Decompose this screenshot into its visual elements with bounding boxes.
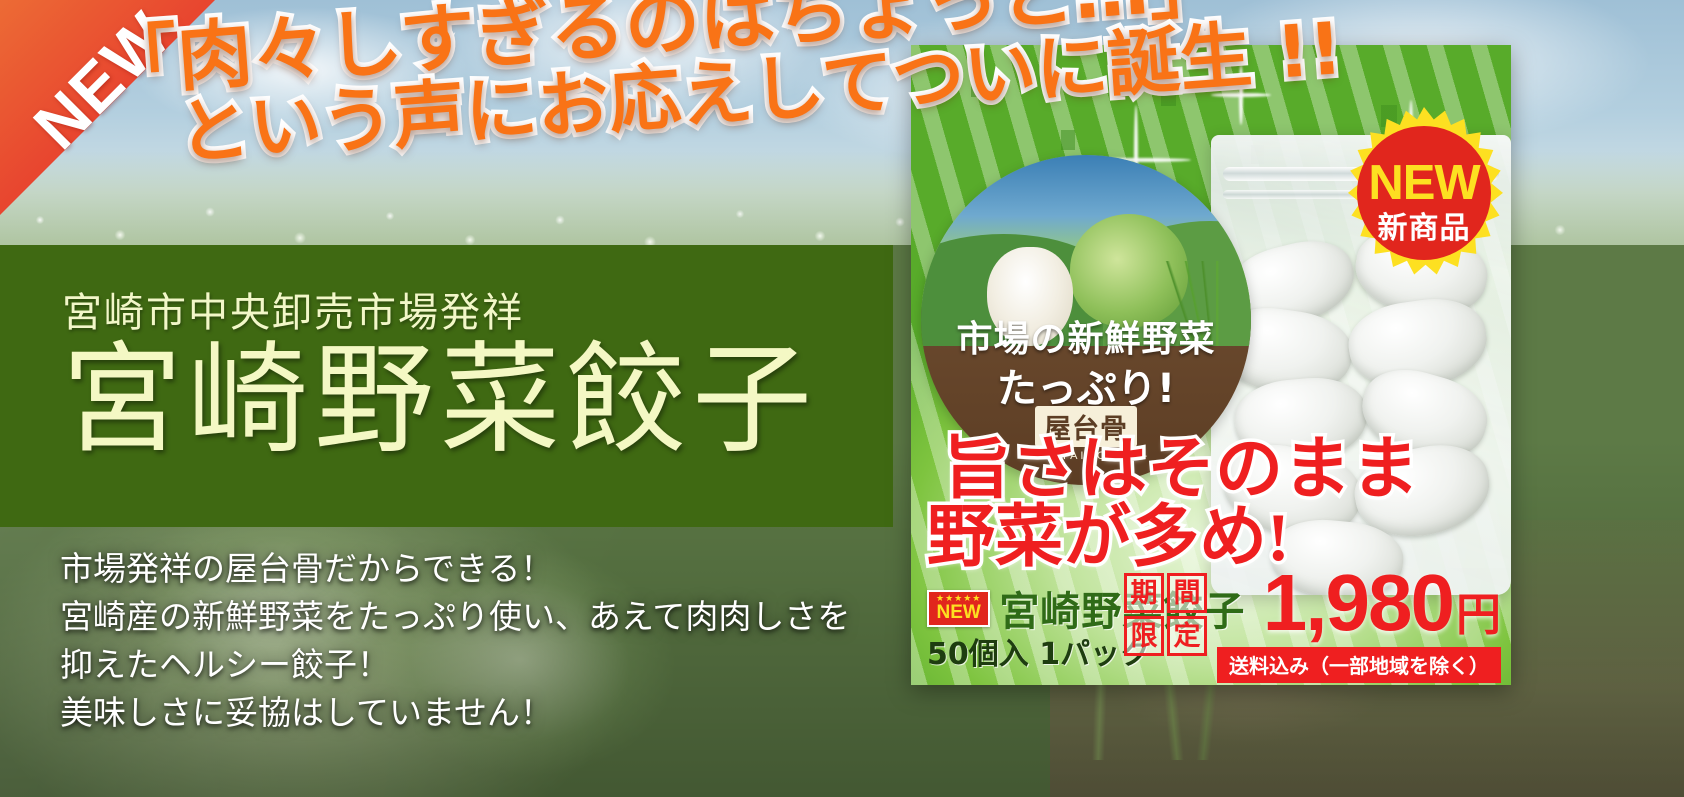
limited-char-1: 期 xyxy=(1124,573,1164,613)
body-line-4: 美味しさに妥協はしていません！ xyxy=(60,689,940,737)
page-title: 宮崎野菜餃子 xyxy=(62,335,818,467)
price-block: 1,980 円 送料込み（一部地域を除く） xyxy=(1217,565,1501,683)
limited-time-badge: 期 間 限 定 xyxy=(1124,573,1207,656)
badge-text-line-1: 市場の新鮮野菜 xyxy=(921,310,1251,362)
mini-new-badge: ★★★★★ NEW xyxy=(927,590,990,627)
promo-line-1: 旨さはそのまま xyxy=(943,435,1485,503)
limited-char-4: 定 xyxy=(1167,616,1207,656)
product-subtitle: 宮崎市中央卸売市場発祥 xyxy=(62,280,524,338)
price-currency: 円 xyxy=(1456,578,1501,643)
package-promo-text: 旨さはそのまま 野菜が多め! xyxy=(925,435,1485,571)
body-line-3: 抑えたヘルシー餃子！ xyxy=(60,641,940,689)
body-copy: 市場発祥の屋台骨だからできる！ 宮崎産の新鮮野菜をたっぷり使い、あえて肉肉しさを… xyxy=(60,545,940,736)
mini-new-label: NEW xyxy=(937,603,981,622)
body-line-1: 市場発祥の屋台骨だからできる！ xyxy=(60,545,940,593)
product-quantity: 50個入 1パック xyxy=(927,629,1150,673)
limited-char-2: 間 xyxy=(1167,573,1207,613)
product-package-panel: 市場の新鮮野菜 たっぷり! 屋台骨 — YATAIBONE — NEW 新商品 … xyxy=(911,45,1511,685)
package-bottom-bar: ★★★★★ NEW 宮崎野菜餃子 50個入 1パック 期 間 限 定 1,980… xyxy=(911,557,1511,685)
new-product-starburst-badge: NEW 新商品 xyxy=(1338,107,1510,279)
body-line-2: 宮崎産の新鮮野菜をたっぷり使い、あえて肉肉しさを xyxy=(60,593,940,641)
price-amount: 1,980 xyxy=(1263,565,1453,641)
price-main: 1,980 円 xyxy=(1263,565,1501,643)
product-title-band: 宮崎市中央卸売市場発祥 宮崎野菜餃子 xyxy=(0,245,893,527)
limited-char-3: 限 xyxy=(1124,616,1164,656)
starburst-sub-label: 新商品 xyxy=(1338,203,1510,247)
price-cluster: 期 間 限 定 1,980 円 送料込み（一部地域を除く） xyxy=(1124,565,1501,683)
shipping-note: 送料込み（一部地域を除く） xyxy=(1217,647,1501,683)
promo-banner: NEW 「肉々しすぎるのはちょっと…」 という声にお応えしてついに誕生 !! 宮… xyxy=(0,0,1684,797)
